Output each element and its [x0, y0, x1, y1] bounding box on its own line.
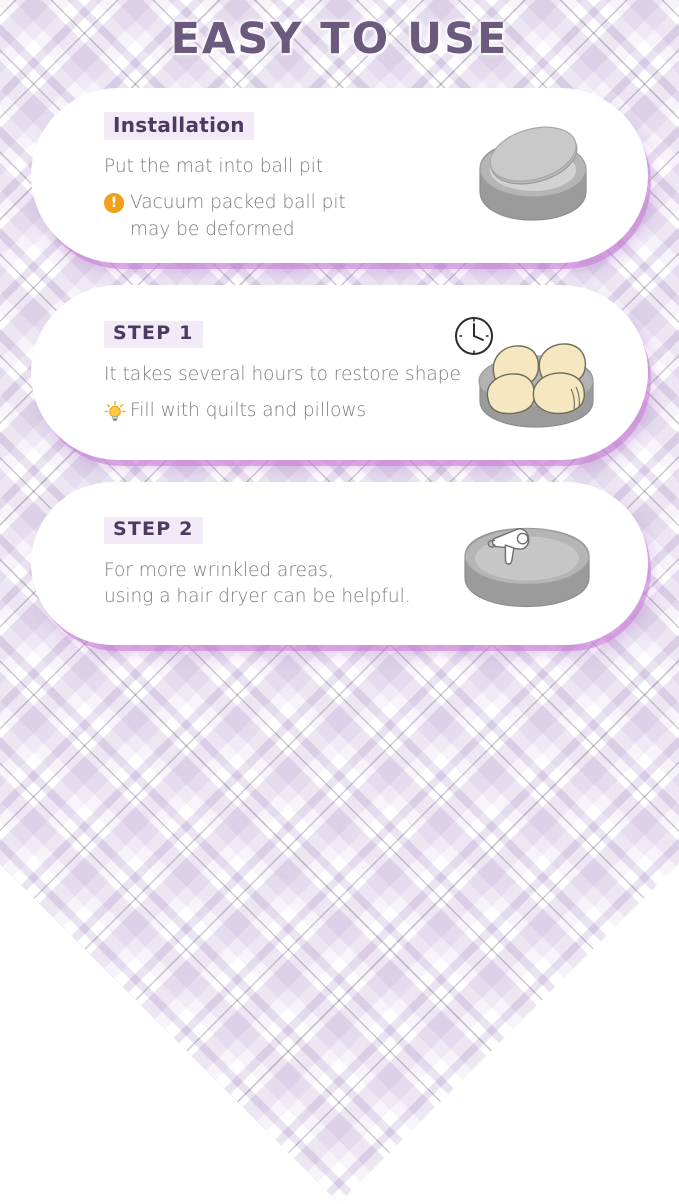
card-text-column: STEP 2 For more wrinkled areas, using a …	[104, 482, 484, 645]
card-line-text: Fill with quilts and pillows	[130, 398, 366, 424]
card-badge-step-1: STEP 1	[104, 321, 203, 348]
instruction-card-step-1: STEP 1 It takes several hours to restore…	[31, 285, 648, 460]
card-line: It takes several hours to restore shape	[104, 362, 504, 388]
card-line: Put the mat into ball pit	[104, 154, 484, 180]
card-line-warning: ! Vacuum packed ball pit may be deformed	[104, 190, 484, 243]
ball-pit-with-mat-illustration	[466, 121, 596, 231]
clock-icon	[456, 318, 492, 354]
instruction-card-step-2: STEP 2 For more wrinkled areas, using a …	[31, 482, 648, 645]
ball-pit-with-pillows-illustration	[450, 313, 610, 433]
lightbulb-icon	[104, 401, 125, 422]
card-text-column: STEP 1 It takes several hours to restore…	[104, 285, 504, 460]
card-line: For more wrinkled areas, using a hair dr…	[104, 558, 484, 611]
ball-pit-with-hair-dryer-illustration	[453, 511, 603, 616]
card-line-text: For more wrinkled areas, using a hair dr…	[104, 558, 411, 611]
warning-icon: !	[104, 193, 125, 214]
card-badge-step-2: STEP 2	[104, 517, 203, 544]
card-line-text: Put the mat into ball pit	[104, 154, 323, 180]
page-title: EASY TO USE	[0, 14, 679, 64]
card-line-tip: Fill with quilts and pillows	[104, 398, 504, 424]
card-line-text: Vacuum packed ball pit may be deformed	[130, 190, 346, 243]
instruction-card-installation: Installation Put the mat into ball pit !…	[31, 88, 648, 263]
card-line-text: It takes several hours to restore shape	[104, 362, 461, 388]
card-badge-installation: Installation	[104, 112, 254, 140]
card-text-column: Installation Put the mat into ball pit !…	[104, 88, 484, 265]
